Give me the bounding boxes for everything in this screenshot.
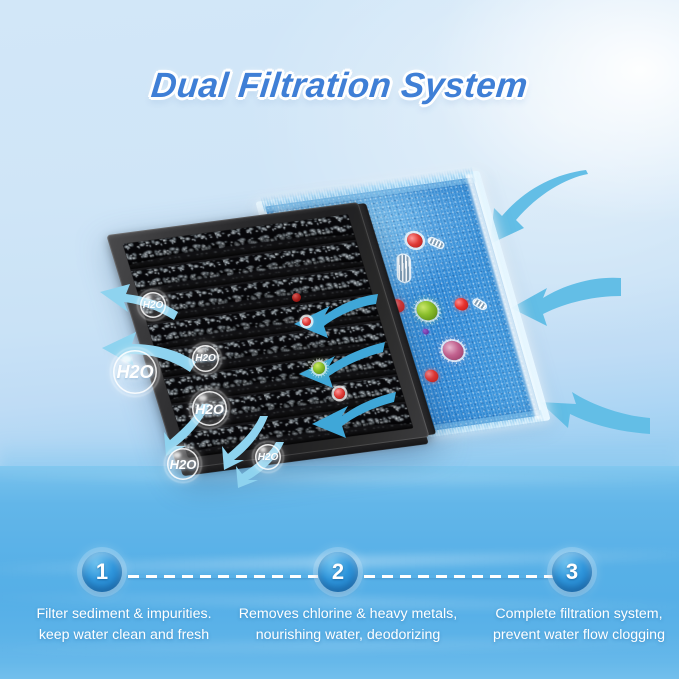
step-caption-2: Removes chlorine & heavy metals, nourish…	[239, 604, 457, 646]
caption-line: Complete filtration system,	[493, 604, 665, 625]
step-number: 1	[96, 559, 108, 585]
step-badge-1[interactable]: 1	[82, 552, 122, 592]
germ-bacteria-icon	[302, 317, 311, 326]
carbon-slat-grid	[123, 214, 414, 458]
h2o-bubble: H2O	[113, 350, 157, 394]
caption-line: nourishing water, deodorizing	[239, 625, 457, 646]
step-track: 1 2 3	[0, 552, 679, 602]
step-number: 2	[332, 559, 344, 585]
h2o-bubble: H2O	[192, 391, 227, 426]
infographic-canvas: Dual Filtration System	[0, 0, 679, 679]
step-caption-3: Complete filtration system, prevent wate…	[493, 604, 665, 646]
h2o-label: H2O	[258, 452, 279, 463]
h2o-label: H2O	[143, 300, 164, 311]
step-connector-dashed	[128, 575, 318, 578]
germ-bacillus-icon	[398, 254, 410, 282]
germ-bacteria-icon	[334, 388, 345, 399]
caption-line: prevent water flow clogging	[493, 625, 665, 646]
germ-algae-icon	[313, 362, 325, 374]
germ-bacteria-icon	[292, 293, 301, 302]
h2o-bubble: H2O	[255, 444, 281, 470]
step-number: 3	[566, 559, 578, 585]
step-connector-dashed	[364, 575, 554, 578]
h2o-label: H2O	[170, 457, 197, 472]
h2o-bubble: H2O	[140, 292, 166, 318]
step-caption-1: Filter sediment & impurities. keep water…	[36, 604, 211, 646]
caption-line: keep water clean and fresh	[36, 625, 211, 646]
germ-virus-icon	[440, 340, 466, 362]
h2o-label: H2O	[195, 401, 224, 417]
h2o-label: H2O	[195, 353, 216, 364]
h2o-bubble: H2O	[167, 448, 199, 480]
h2o-label: H2O	[116, 362, 153, 383]
germ-algae-icon	[414, 300, 440, 322]
step-badge-3[interactable]: 3	[552, 552, 592, 592]
caption-line: Filter sediment & impurities.	[36, 604, 211, 625]
step-badge-2[interactable]: 2	[318, 552, 358, 592]
h2o-bubble: H2O	[192, 345, 219, 372]
caption-line: Removes chlorine & heavy metals,	[239, 604, 457, 625]
